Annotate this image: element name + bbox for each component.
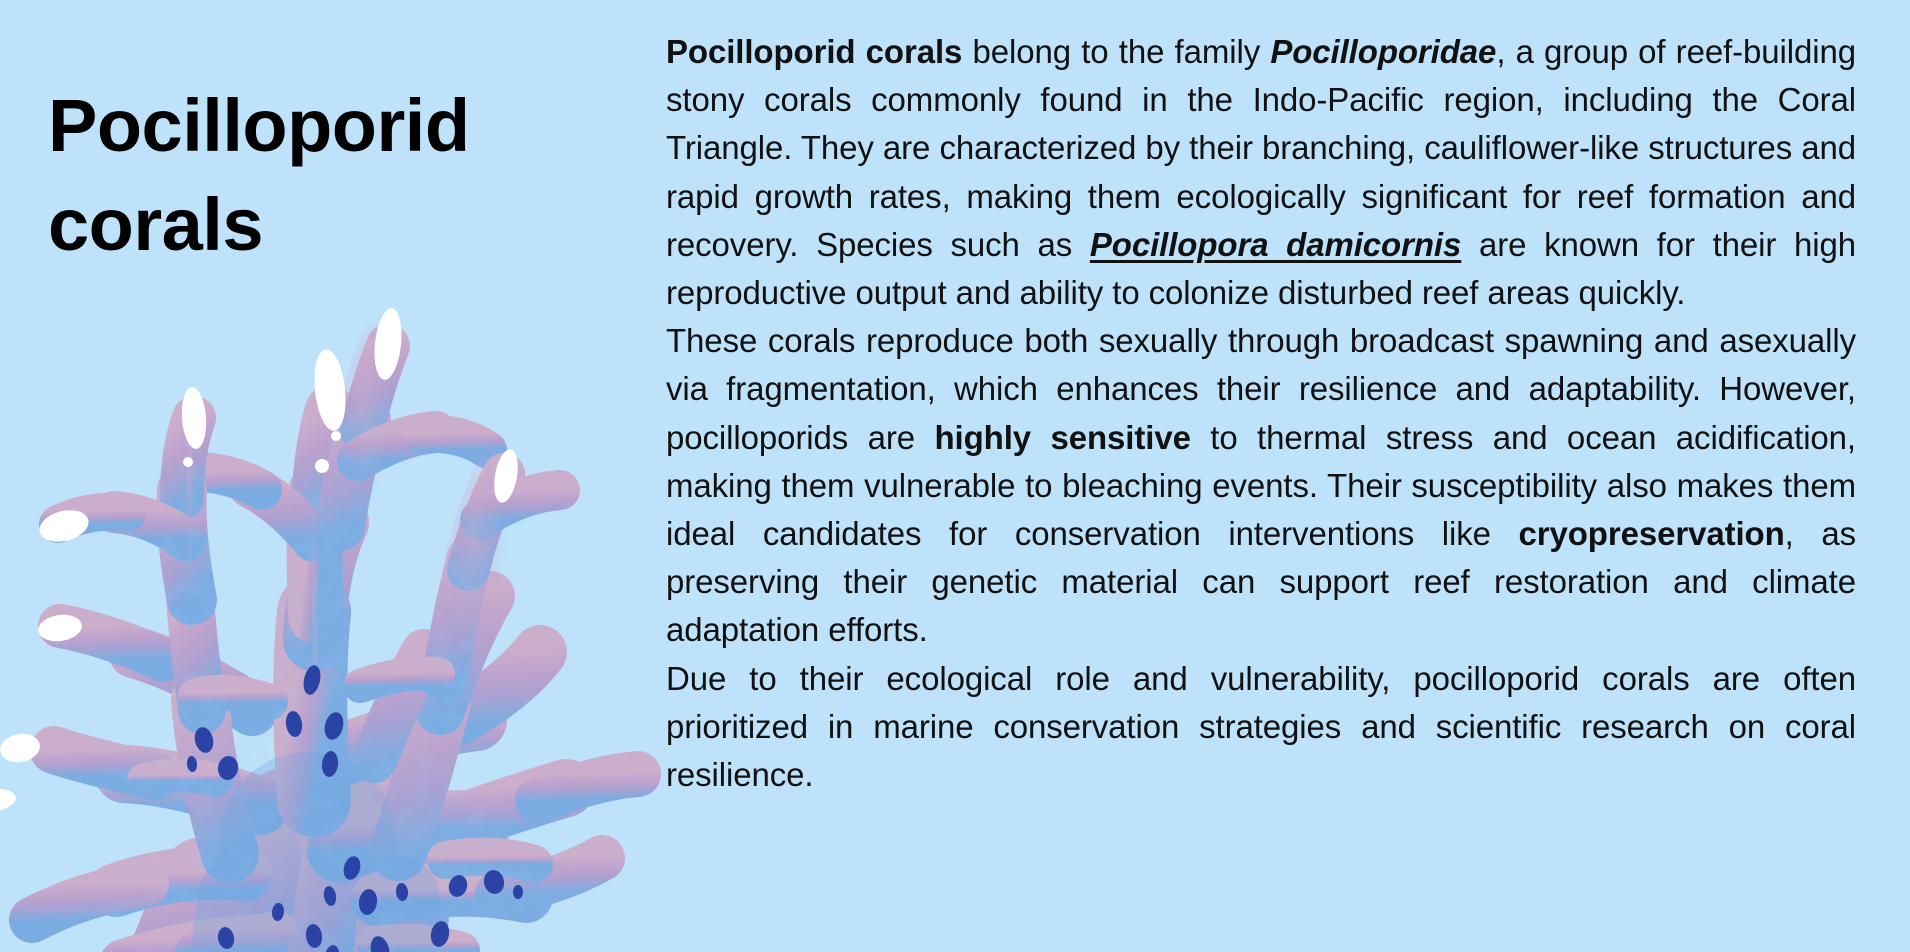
text-run-1: Pocilloporid corals (666, 33, 962, 70)
body-paragraph-3: Due to their ecological role and vulnera… (666, 655, 1856, 800)
text-run-4: cryopreservation (1518, 515, 1784, 552)
text-run-2: belong to the family (962, 33, 1270, 70)
text-run-3: Pocilloporidae (1270, 33, 1496, 70)
text-run-5: Pocillopora damicornis (1090, 226, 1461, 263)
text-run-1: Due to their ecological role and vulnera… (666, 660, 1856, 793)
body-text-column: Pocilloporid corals belong to the family… (666, 28, 1856, 938)
body-paragraph-2: These corals reproduce both sexually thr… (666, 317, 1856, 654)
body-paragraph-1: Pocilloporid corals belong to the family… (666, 28, 1856, 317)
slide-canvas: Pocilloporid corals (0, 0, 1910, 952)
pocilloporid-coral-illustration (0, 240, 678, 952)
left-column: Pocilloporid corals (0, 0, 660, 952)
text-run-2: highly sensitive (934, 419, 1190, 456)
